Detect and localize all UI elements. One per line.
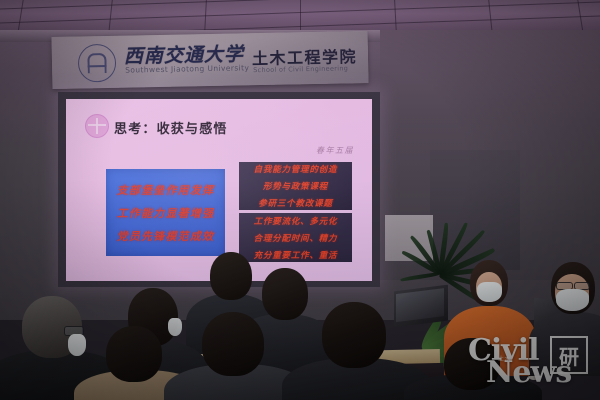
man-glasses-with-laptop xyxy=(545,262,600,368)
slide-dark-line: 充分重要工作、重活 xyxy=(254,249,338,261)
head xyxy=(322,302,386,368)
university-signboard: 西南交通大学 Southwest Jiaotong University 土木工… xyxy=(52,31,369,89)
slide-dark-line: 工作要流化、多元化 xyxy=(254,215,338,227)
slide-dark-box-top: 自我能力管理的创造 形势与政策课程 参研三个教改课题 xyxy=(239,162,352,210)
slide-signature-text: 春年五届 xyxy=(316,145,354,156)
slide-dark-line: 自我能力管理的创造 xyxy=(254,163,338,175)
slide-blue-line: 党员先锋模范成效 xyxy=(117,228,215,244)
slide-title: 思考：收获与感悟 xyxy=(114,118,228,137)
ceiling-tile-grid xyxy=(0,0,600,34)
signboard-university-en: Southwest Jiaotong University xyxy=(125,63,249,74)
slide-corner-logo xyxy=(85,114,109,138)
slide-blue-line: 支部堡垒作用发挥 xyxy=(117,182,215,198)
screenshot-root: 西南交通大学 Southwest Jiaotong University 土木工… xyxy=(0,0,600,400)
slide-dark-line: 合理分配时间、精力 xyxy=(254,232,338,244)
audience-member-front xyxy=(178,318,290,400)
ceiling xyxy=(0,0,600,34)
head xyxy=(106,326,162,382)
head xyxy=(202,312,264,376)
slide-blue-line: 工作能力显著增强 xyxy=(117,205,215,221)
audience-member-front xyxy=(416,340,524,400)
signboard-school-en: School of Civil Engineering xyxy=(253,64,348,74)
swjtu-seal-emblem xyxy=(78,44,117,83)
audience-member-front xyxy=(300,306,410,400)
dark-jacket xyxy=(529,312,600,376)
slide-blue-box: 支部堡垒作用发挥 工作能力显著增强 党员先锋模范成效 xyxy=(106,169,225,256)
slide-dark-line: 形势与政策课程 xyxy=(263,180,328,192)
face-mask xyxy=(556,289,589,311)
face-mask xyxy=(477,282,502,302)
head xyxy=(444,338,500,390)
slide-dark-line: 参研三个教改课题 xyxy=(258,197,332,209)
